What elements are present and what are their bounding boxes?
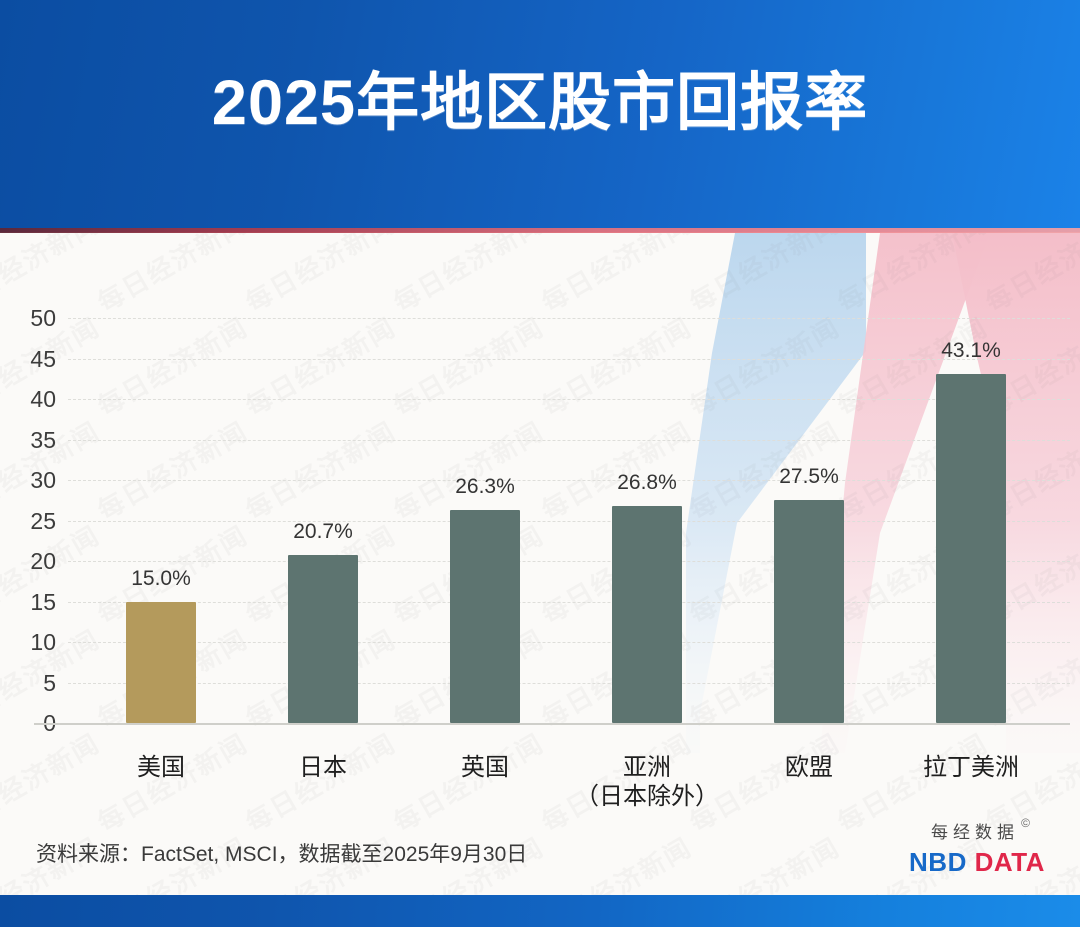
x-axis-category-label: 亚洲 （日本除外） — [557, 753, 737, 812]
y-axis-tick-label: 40 — [0, 388, 56, 411]
y-axis-tick-label: 30 — [0, 469, 56, 492]
y-axis-tick-label: 15 — [0, 591, 56, 614]
gridline — [68, 642, 1070, 643]
gridline — [68, 602, 1070, 603]
chart-page: 2025年地区股市回报率 每日经济新闻每日经济新 — [0, 0, 1080, 927]
bar — [612, 506, 682, 723]
x-axis-line — [34, 723, 1070, 725]
logo-nbd-label: NBD — [909, 847, 967, 877]
x-axis-category-label: 欧盟 — [719, 753, 899, 782]
bar-value-label: 26.3% — [415, 476, 555, 497]
page-title: 2025年地区股市回报率 — [0, 72, 1080, 135]
bar-value-label: 15.0% — [91, 568, 231, 589]
bar-value-label: 20.7% — [253, 521, 393, 542]
y-axis-tick-label: 5 — [0, 672, 56, 695]
source-note: 资料来源：FactSet, MSCI，数据截至2025年9月30日 — [36, 838, 527, 868]
chart-body: 每日经济新闻每日经济新闻每日经济新闻每日经济新闻每日经济新闻每日经济新闻每日经济… — [0, 233, 1080, 895]
copyright-icon: © — [1021, 817, 1030, 829]
bar — [450, 510, 520, 723]
logo-chinese-label: 每经数据 — [931, 823, 1019, 842]
gridline — [68, 318, 1070, 319]
y-axis-tick-label: 35 — [0, 429, 56, 452]
logo-data-label: DATA — [975, 847, 1045, 877]
gridline — [68, 521, 1070, 522]
bar — [936, 374, 1006, 723]
gridline — [68, 480, 1070, 481]
header-banner: 2025年地区股市回报率 — [0, 0, 1080, 232]
y-axis-tick-label: 50 — [0, 307, 56, 330]
plot-area: 5045403530252015105015.0%美国20.7%日本26.3%英… — [0, 233, 1080, 895]
gridline — [68, 399, 1070, 400]
logo-english-text: NBD DATA — [902, 849, 1052, 875]
bar-value-label: 43.1% — [901, 340, 1041, 361]
x-axis-category-label: 美国 — [71, 753, 251, 782]
bar-value-label: 26.8% — [577, 472, 717, 493]
nbd-logo: 每经数据© NBD DATA — [902, 824, 1052, 875]
bar — [774, 500, 844, 723]
gridline — [68, 561, 1070, 562]
logo-chinese-text: 每经数据© — [931, 824, 1023, 841]
gridline — [68, 683, 1070, 684]
bar-value-label: 27.5% — [739, 466, 879, 487]
y-axis-tick-label: 25 — [0, 510, 56, 533]
y-axis-tick-label: 10 — [0, 631, 56, 654]
x-axis-category-label: 拉丁美洲 — [881, 753, 1061, 782]
y-axis-tick-label: 20 — [0, 550, 56, 573]
x-axis-category-label: 日本 — [233, 753, 413, 782]
bar — [288, 555, 358, 723]
y-axis-tick-label: 45 — [0, 348, 56, 371]
x-axis-category-label: 英国 — [395, 753, 575, 782]
footer-bar — [0, 895, 1080, 927]
bar — [126, 602, 196, 724]
gridline — [68, 440, 1070, 441]
